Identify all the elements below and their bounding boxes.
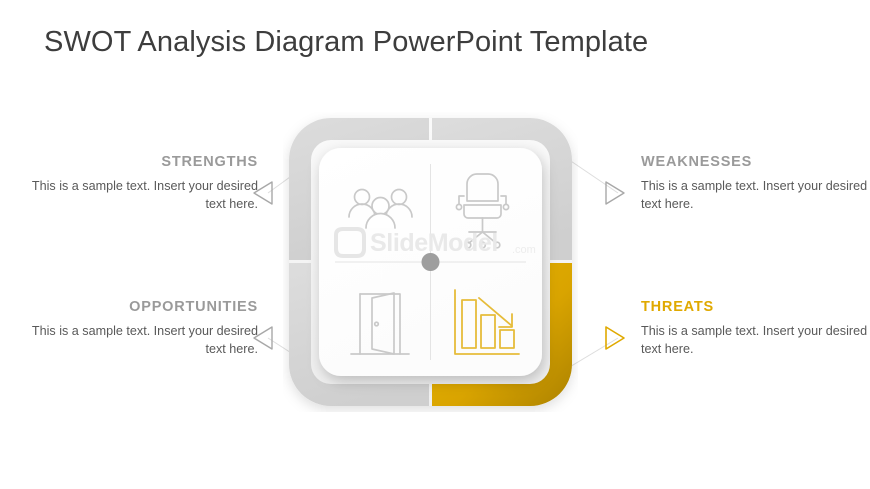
- threats-heading: THREATS: [641, 300, 870, 316]
- triangle-left-icon-opportunities[interactable]: [252, 325, 274, 351]
- triangle-right-icon-weaknesses[interactable]: [604, 180, 626, 206]
- triangle-left-icon-strengths[interactable]: [252, 180, 274, 206]
- quadrant-label-opportunities: OPPORTUNITIES This is a sample text. Ins…: [28, 300, 258, 359]
- strengths-body: This is a sample text. Insert your desir…: [28, 178, 258, 214]
- opportunities-heading: OPPORTUNITIES: [28, 300, 258, 316]
- quadrant-label-weaknesses: WEAKNESSES This is a sample text. Insert…: [641, 155, 870, 214]
- weaknesses-body: This is a sample text. Insert your desir…: [641, 178, 870, 214]
- quadrant-label-strengths: STRENGTHS This is a sample text. Insert …: [28, 155, 258, 214]
- strengths-heading: STRENGTHS: [28, 155, 258, 171]
- threats-body: This is a sample text. Insert your desir…: [641, 323, 870, 359]
- center-hub-dot: [422, 253, 440, 271]
- swot-diagram: [283, 112, 578, 412]
- weaknesses-heading: WEAKNESSES: [641, 155, 870, 171]
- triangle-right-icon-threats[interactable]: [604, 325, 626, 351]
- page-title: SWOT Analysis Diagram PowerPoint Templat…: [44, 26, 648, 59]
- quadrant-label-threats: THREATS This is a sample text. Insert yo…: [641, 300, 870, 359]
- opportunities-body: This is a sample text. Insert your desir…: [28, 323, 258, 359]
